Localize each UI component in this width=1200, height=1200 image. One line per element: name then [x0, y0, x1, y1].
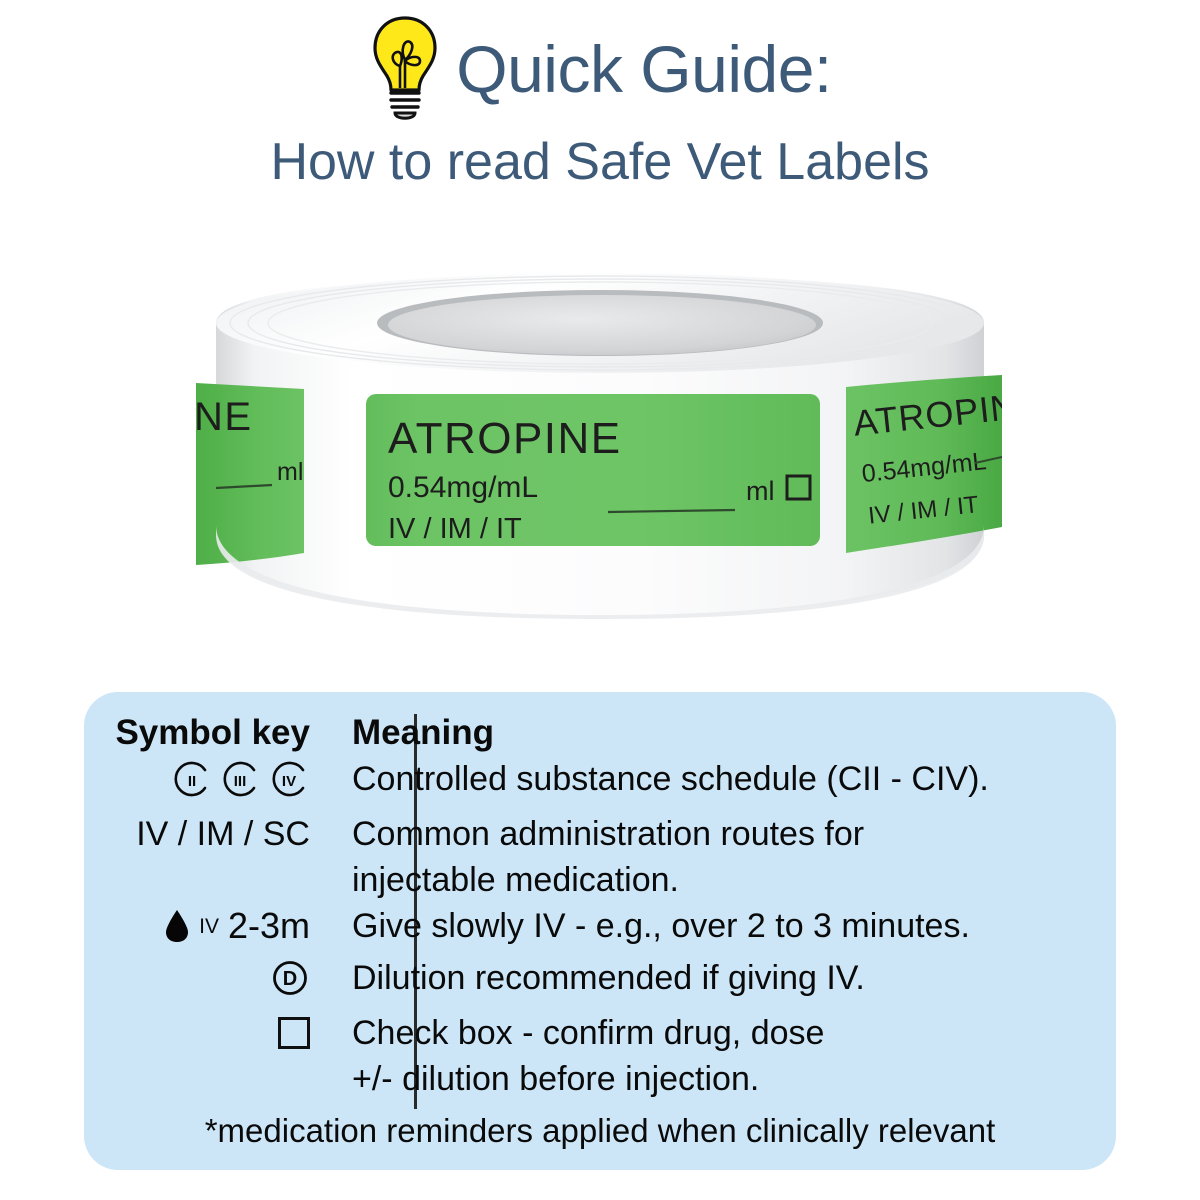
legend-symbol-routes: IV / IM / SC — [84, 811, 330, 857]
legend-header-row: Symbol key Meaning — [84, 710, 1116, 756]
dilution-d-icon: D — [270, 958, 310, 998]
legend-meaning-routes: Common administration routes for injecta… — [330, 811, 1116, 903]
legend-panel: Symbol key Meaning II III IV — [84, 692, 1116, 1170]
svg-text:II: II — [188, 773, 196, 790]
legend-meaning-line: Give slowly IV - e.g., over 2 to 3 minut… — [352, 903, 1116, 949]
droplet-icon — [164, 909, 190, 943]
legend-symbol-checkbox — [84, 1010, 330, 1061]
front-label-drug-name: ATROPINE — [388, 414, 622, 463]
schedule-c3-icon: III — [221, 759, 261, 799]
title-row: Quick Guide: — [0, 0, 1200, 130]
svg-text:D: D — [283, 968, 297, 990]
schedule-c4-icon: IV — [270, 759, 310, 799]
right-partial-label: ATROPINE 0.54mg/mL IV / IM / IT — [846, 375, 1053, 553]
svg-text:III: III — [234, 773, 247, 790]
front-label-concentration: 0.54mg/mL — [388, 471, 538, 504]
legend-header-symbol: Symbol key — [84, 710, 330, 756]
front-label-routes: IV / IM / IT — [388, 513, 522, 545]
legend-row-checkbox: Check box - confirm drug, dose +/- dilut… — [84, 1010, 1116, 1102]
legend-meaning-line: Common administration routes for — [352, 811, 1116, 857]
legend-symbol-schedule: II III IV — [84, 756, 330, 811]
legend-row-routes: IV / IM / SC Common administration route… — [84, 811, 1116, 903]
legend-meaning-slow-iv: Give slowly IV - e.g., over 2 to 3 minut… — [330, 903, 1116, 949]
legend-row-schedule: II III IV Controlled substance schedule … — [84, 756, 1116, 811]
page-header: Quick Guide: How to read Safe Vet Labels — [0, 0, 1200, 210]
legend-meaning-line: Controlled substance schedule (CII - CIV… — [352, 756, 1116, 802]
legend-symbol-duration: 2-3m — [228, 908, 310, 944]
svg-text:IV: IV — [282, 773, 296, 790]
legend-meaning-line: Dilution recommended if giving IV. — [352, 955, 1116, 1001]
legend-meaning-schedule: Controlled substance schedule (CII - CIV… — [330, 756, 1116, 802]
front-label-volume-unit: ml — [746, 476, 775, 506]
lightbulb-icon — [368, 14, 442, 124]
legend-symbol-route-abbrev: IV — [199, 916, 219, 937]
front-label: ATROPINE 0.54mg/mL IV / IM / IT ml — [366, 394, 820, 546]
left-label-volume-unit: ml — [277, 458, 303, 486]
legend-row-slow-iv: IV 2-3m Give slowly IV - e.g., over 2 to… — [84, 903, 1116, 955]
legend-meaning-line: +/- dilution before injection. — [352, 1056, 1116, 1102]
page-title: Quick Guide: — [456, 36, 832, 102]
legend-meaning-checkbox: Check box - confirm drug, dose +/- dilut… — [330, 1010, 1116, 1102]
left-label-drug-name-partial: NE — [194, 395, 253, 439]
legend-symbol-slow-iv: IV 2-3m — [84, 903, 330, 955]
legend-row-dilution: D Dilution recommended if giving IV. — [84, 955, 1116, 1010]
legend-grid: Symbol key Meaning II III IV — [84, 710, 1116, 1102]
page-subtitle: How to read Safe Vet Labels — [0, 136, 1200, 188]
label-roll-image: ATROPINE 0.54mg/mL IV / IM / IT ml NE ml… — [0, 235, 1200, 665]
label-roll-svg: ATROPINE 0.54mg/mL IV / IM / IT ml NE ml… — [0, 235, 1200, 665]
legend-header-meaning: Meaning — [330, 710, 1116, 756]
legend-footnote: *medication reminders applied when clini… — [84, 1110, 1116, 1152]
legend-symbol-dilution: D — [84, 955, 330, 1010]
checkbox-icon — [278, 1017, 310, 1049]
schedule-c2-icon: II — [172, 759, 212, 799]
legend-meaning-line: Check box - confirm drug, dose — [352, 1010, 1116, 1056]
legend-meaning-dilution: Dilution recommended if giving IV. — [330, 955, 1116, 1001]
legend-meaning-line: injectable medication. — [352, 857, 1116, 903]
